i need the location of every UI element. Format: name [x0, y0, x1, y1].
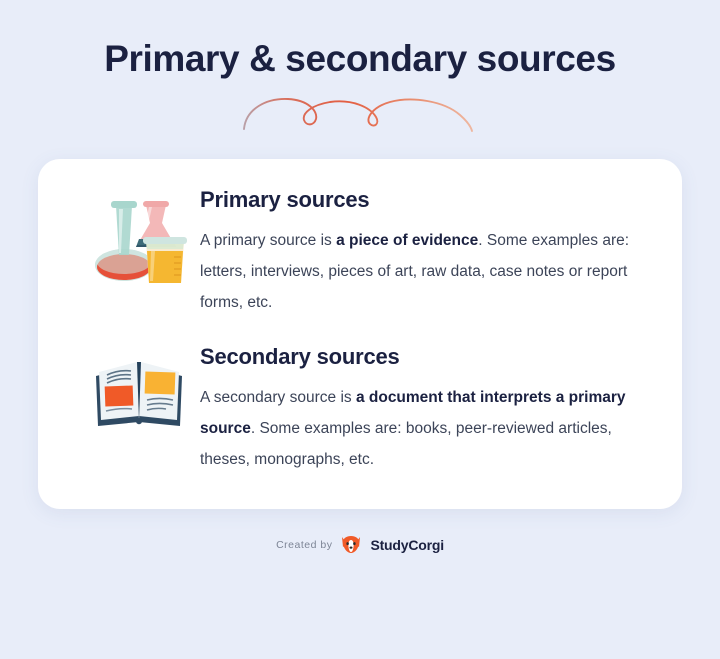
primary-sources-heading: Primary sources: [200, 187, 642, 213]
section-primary-sources: Primary sources A primary source is a pi…: [78, 187, 642, 318]
lab-flasks-icon-cell: [78, 187, 200, 289]
infographic-page: Primary & secondary sources: [0, 0, 720, 659]
footer-credit: Created by StudyCorgi: [276, 535, 444, 555]
lab-flasks-icon: [90, 193, 188, 289]
open-book-icon-cell: [78, 344, 200, 434]
corgi-face-logo-icon: [340, 535, 362, 555]
created-by-label: Created by: [276, 539, 332, 551]
open-book-icon: [90, 350, 188, 434]
brand-name: StudyCorgi: [370, 537, 443, 553]
squiggle-flourish-icon: [240, 93, 480, 137]
secondary-sources-body: A secondary source is a document that in…: [200, 382, 642, 475]
content-card: Primary sources A primary source is a pi…: [38, 159, 682, 509]
section-secondary-sources: Secondary sources A secondary source is …: [78, 344, 642, 475]
secondary-sources-heading: Secondary sources: [200, 344, 642, 370]
secondary-sources-text: Secondary sources A secondary source is …: [200, 344, 642, 475]
primary-sources-text: Primary sources A primary source is a pi…: [200, 187, 642, 318]
primary-sources-body: A primary source is a piece of evidence.…: [200, 225, 642, 318]
page-title: Primary & secondary sources: [104, 38, 616, 81]
